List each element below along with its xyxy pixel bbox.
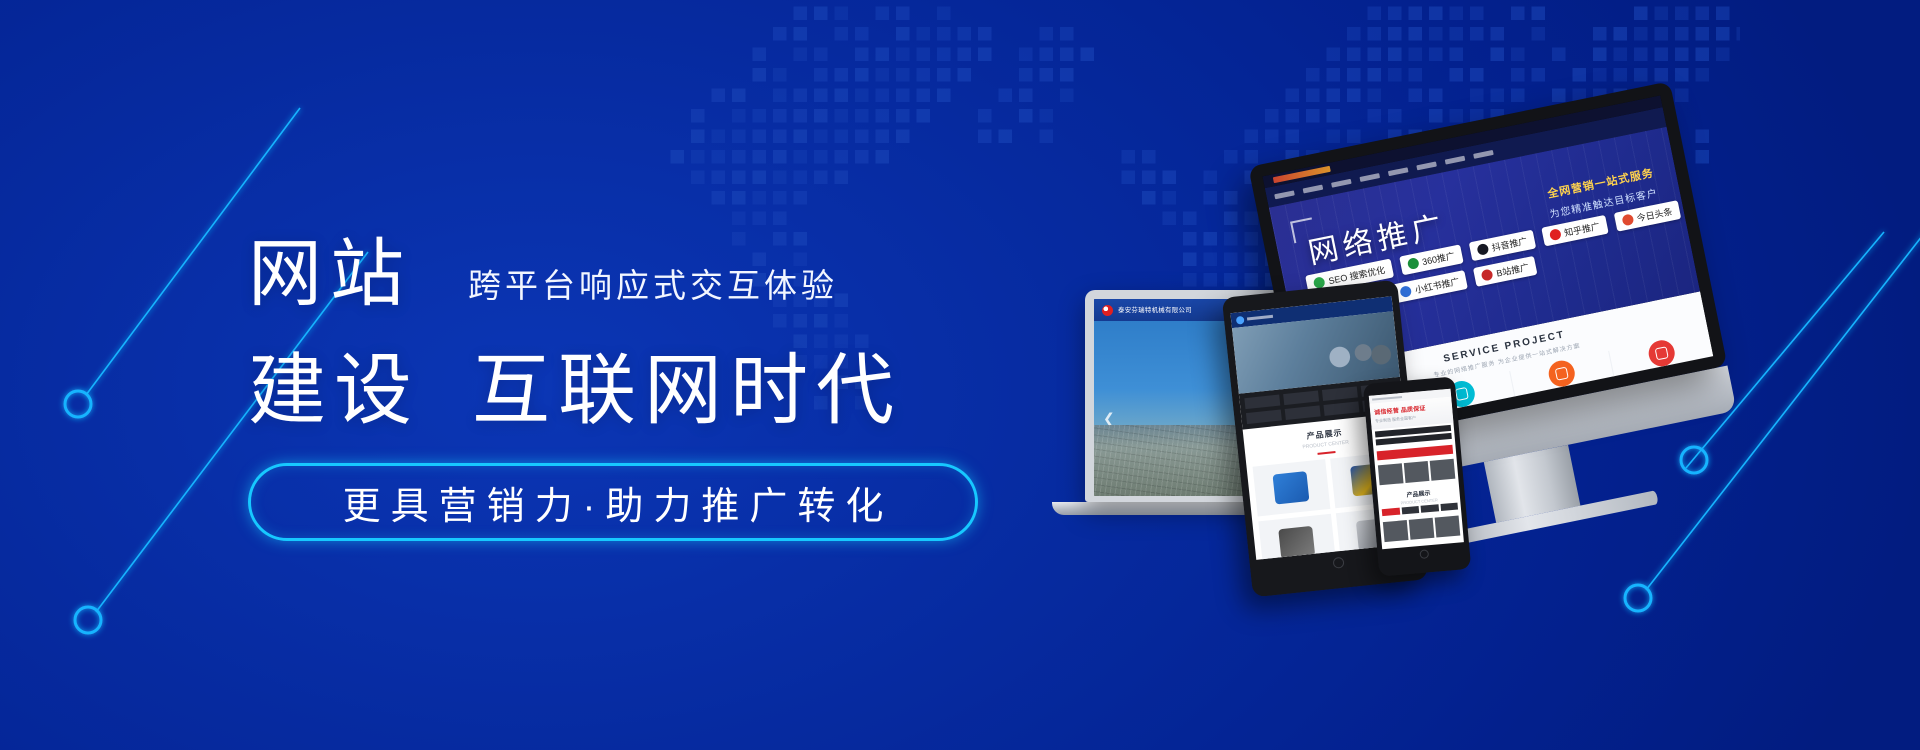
phone-body: 诚信经营 品质保证 专业制造 服务全国客户 产品展示 PRODUCT CENTE… <box>1363 376 1471 576</box>
tablet-product-item <box>1258 514 1335 560</box>
phone-screen: 诚信经营 品质保证 专业制造 服务全国客户 产品展示 PRODUCT CENTE… <box>1369 389 1464 550</box>
laptop-brand-name: 泰安芬瑞特机械有限公司 <box>1118 305 1192 314</box>
device-mockup-group: 泰安芬瑞特机械有限公司 ❮ 芬瑞特机械 <box>1085 120 1885 640</box>
headline-line2-main: 建设 <box>248 351 420 429</box>
hero-platform-tag: B站推广 <box>1473 256 1538 287</box>
tablet-product-item <box>1253 459 1330 516</box>
platform-logo-icon <box>1481 269 1494 282</box>
platform-logo-icon <box>1406 257 1419 270</box>
service-card-icon <box>1546 358 1577 389</box>
phone-mockup: 诚信经营 品质保证 专业制造 服务全国客户 产品展示 PRODUCT CENTE… <box>1363 376 1471 576</box>
headline-row-2: 建设 互联网时代 <box>248 333 1108 429</box>
tablet-brand-logo-icon <box>1236 315 1245 324</box>
headline-line1-main: 网站 <box>248 237 412 311</box>
platform-tag-label: 小红书推广 <box>1414 274 1461 296</box>
platform-tag-label: 360推广 <box>1421 249 1456 268</box>
platform-logo-icon <box>1548 228 1561 241</box>
tablet-home-button[interactable] <box>1332 557 1344 569</box>
hero-platform-tag: 小红书推广 <box>1392 270 1468 303</box>
platform-tag-label: 抖音推广 <box>1490 234 1528 254</box>
headline-line2-accent: 互联网时代 <box>472 351 902 429</box>
platform-logo-icon <box>1621 213 1634 226</box>
service-card-icon <box>1646 338 1677 369</box>
headline-row-1: 网站 跨平台响应式交互体验 <box>248 215 1108 311</box>
platform-tag-label: 知乎推广 <box>1563 219 1601 239</box>
laptop-brand-logo-icon <box>1102 305 1113 316</box>
headline-subtitle: 跨平台响应式交互体验 <box>468 269 838 311</box>
platform-tag-label: 今日头条 <box>1636 205 1674 225</box>
platform-logo-icon <box>1476 243 1489 256</box>
hero-copy: 网站 跨平台响应式交互体验 建设 互联网时代 更具营销力·助力推广转化 <box>248 215 1108 541</box>
platform-logo-icon <box>1399 285 1412 298</box>
tablet-section-rule <box>1317 451 1335 455</box>
tagline-text: 更具营销力·助力推广转化 <box>333 475 894 530</box>
hero-banner: 网站 跨平台响应式交互体验 建设 互联网时代 更具营销力·助力推广转化 泰安芬瑞… <box>0 0 1920 750</box>
tagline-pill: 更具营销力·助力推广转化 <box>248 463 978 541</box>
phone-home-button[interactable] <box>1419 549 1429 559</box>
platform-tag-label: B站推广 <box>1495 260 1530 279</box>
